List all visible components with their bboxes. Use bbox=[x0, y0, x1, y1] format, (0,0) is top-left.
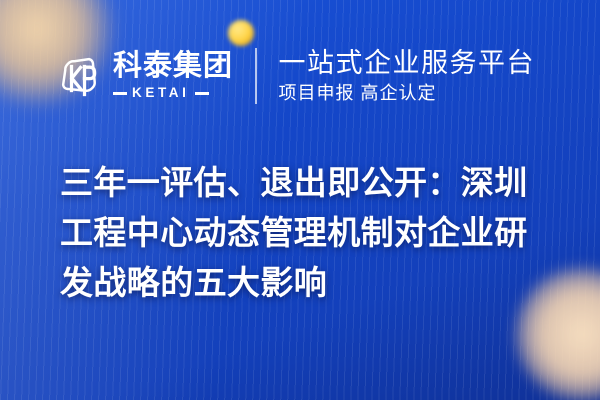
brand-name-en-row: KETAI bbox=[113, 86, 233, 100]
brand-wordmark: 科泰集团 KETAI bbox=[113, 52, 233, 100]
headline-title: 三年一评估、退出即公开：深圳工程中心动态管理机制对企业研发战略的五大影响 bbox=[60, 158, 560, 308]
promo-banner: 科泰集团 KETAI 一站式企业服务平台 项目申报 高企认定 三年一评估、退出即… bbox=[0, 0, 600, 400]
tagline-block: 一站式企业服务平台 项目申报 高企认定 bbox=[279, 49, 536, 102]
brand-name-cn: 科泰集团 bbox=[113, 52, 233, 81]
wordmark-dash-left-icon bbox=[113, 92, 127, 95]
brand-name-en: KETAI bbox=[132, 86, 190, 100]
ketai-diamond-monogram-icon bbox=[56, 50, 104, 102]
tagline-sub: 项目申报 高企认定 bbox=[279, 84, 536, 103]
wordmark-dash-right-icon bbox=[195, 92, 209, 95]
brand-lockup: 科泰集团 KETAI 一站式企业服务平台 项目申报 高企认定 bbox=[56, 44, 535, 108]
gold-coin-dot-icon bbox=[228, 20, 254, 46]
lockup-divider bbox=[255, 48, 257, 104]
tagline-main: 一站式企业服务平台 bbox=[279, 49, 536, 77]
